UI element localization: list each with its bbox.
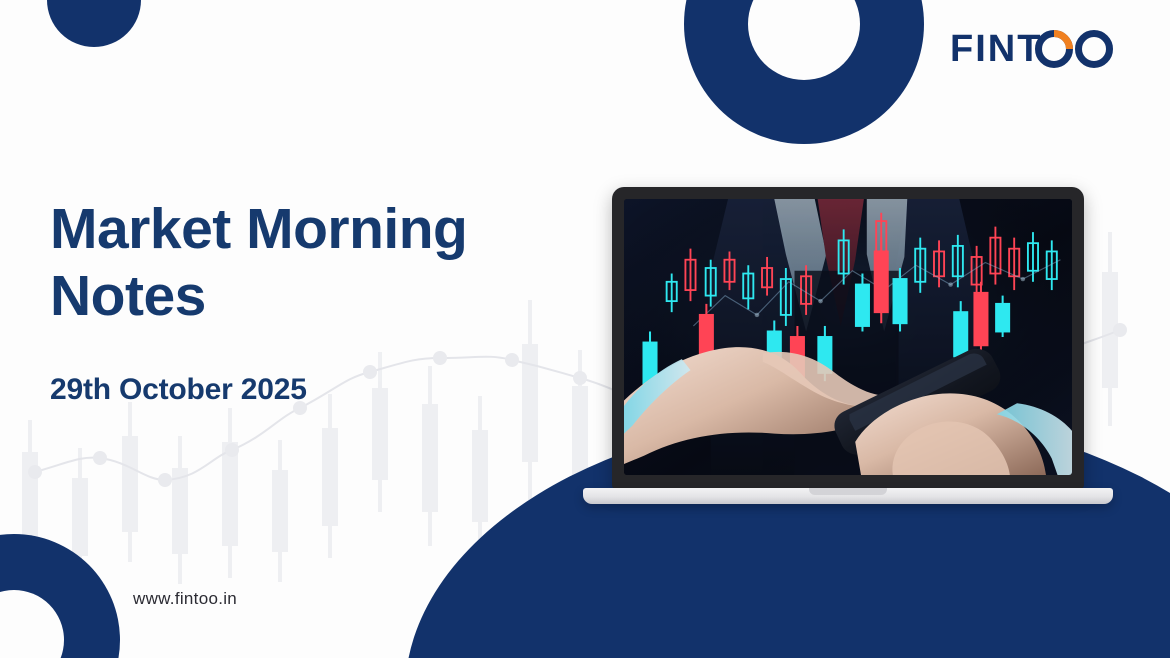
trading-chart-image: [624, 199, 1072, 475]
page-title-line-2: Notes: [50, 264, 206, 328]
decor-ring-bottom-left: [0, 534, 120, 658]
laptop-trackpad-notch: [809, 488, 887, 495]
laptop-lid: [612, 187, 1084, 489]
page-title-line-1: Market Morning: [50, 197, 467, 261]
headline-block: Market Morning Notes 29th October 2025: [50, 196, 570, 407]
poster-canvas: FINT Market Morning Notes 29th October 2…: [0, 0, 1170, 658]
decor-circle-top-left: [47, 0, 141, 47]
fintoo-logo-icon: FINT: [950, 28, 1122, 74]
fintoo-logo[interactable]: FINT: [950, 28, 1122, 74]
laptop-mockup: [612, 187, 1084, 504]
publication-date: 29th October 2025: [50, 373, 570, 407]
website-url[interactable]: www.fintoo.in: [133, 589, 237, 609]
laptop-screen: [624, 199, 1072, 475]
page-title: Market Morning Notes: [50, 196, 570, 331]
decor-ring-top-center: [684, 0, 924, 144]
svg-text:FINT: FINT: [950, 28, 1042, 70]
laptop-base: [583, 488, 1113, 504]
